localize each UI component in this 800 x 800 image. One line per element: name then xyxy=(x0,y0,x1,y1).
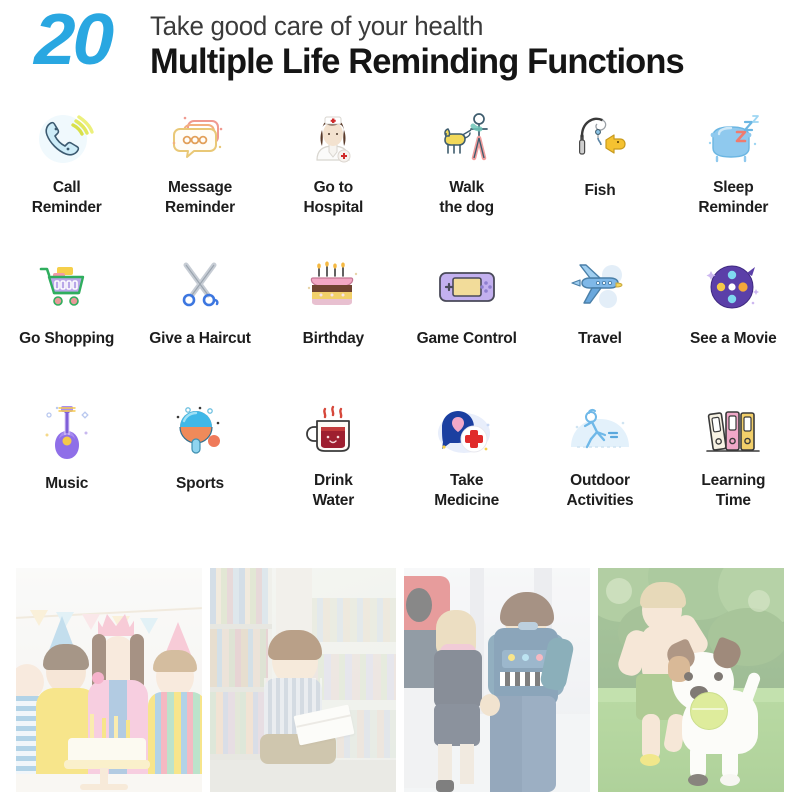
feature-item-travel[interactable]: Travel xyxy=(533,252,666,402)
guitar-icon xyxy=(32,401,102,463)
feature-item-fish[interactable]: Fish xyxy=(533,104,666,254)
handheld-game-icon xyxy=(432,256,502,318)
infographic-page: 20 Take good care of your health Multipl… xyxy=(0,0,800,800)
page-subtitle: Take good care of your health xyxy=(150,12,764,40)
film-reel-icon xyxy=(698,256,768,318)
feature-item-birthday[interactable]: Birthday xyxy=(267,252,400,402)
feature-label: Outdoor Activities xyxy=(567,471,634,511)
drink-mug-icon xyxy=(298,401,368,463)
feature-label: Call Reminder xyxy=(32,178,102,218)
ping-pong-icon xyxy=(165,401,235,463)
nurse-icon xyxy=(298,108,368,170)
feature-grid: Call Reminder xyxy=(0,104,800,554)
chat-bubbles-icon xyxy=(165,108,235,170)
sleeping-pillow-icon xyxy=(698,108,768,170)
feature-item-take-medicine[interactable]: Take Medicine xyxy=(400,397,533,547)
photo-strip xyxy=(0,568,800,796)
feature-item-sports[interactable]: Sports xyxy=(133,397,266,547)
feature-label: Learning Time xyxy=(701,471,765,511)
page-header: 20 Take good care of your health Multipl… xyxy=(0,0,800,100)
photo-school-backpacks xyxy=(404,568,590,792)
feature-label: Birthday xyxy=(303,329,364,349)
photo-library-reading xyxy=(210,568,396,792)
running-person-icon xyxy=(565,401,635,463)
feature-label: Drink Water xyxy=(313,471,355,511)
phone-handset-icon xyxy=(32,108,102,170)
feature-label: Fish xyxy=(584,181,615,201)
photo-boy-with-dog xyxy=(598,568,784,792)
feature-label: Sports xyxy=(176,474,224,494)
feature-item-outdoor-activities[interactable]: Outdoor Activities xyxy=(533,397,666,547)
feature-label: Walk the dog xyxy=(439,178,494,218)
shopping-cart-icon xyxy=(32,256,102,318)
feature-label: Take Medicine xyxy=(434,471,499,511)
feature-item-go-to-hospital[interactable]: Go to Hospital xyxy=(267,104,400,254)
feature-item-call-reminder[interactable]: Call Reminder xyxy=(0,104,133,254)
binders-books-icon xyxy=(698,401,768,463)
feature-label: Go to Hospital xyxy=(304,178,364,218)
feature-label: Give a Haircut xyxy=(149,329,250,349)
feature-item-go-shopping[interactable]: Go Shopping xyxy=(0,252,133,402)
feature-row-1: Call Reminder xyxy=(0,104,800,254)
feature-item-learning-time[interactable]: Learning Time xyxy=(667,397,800,547)
feature-label: Music xyxy=(45,474,88,494)
photo-birthday-party xyxy=(16,568,202,792)
scissors-icon xyxy=(165,256,235,318)
feature-row-3: Music xyxy=(0,397,800,547)
feature-label: Message Reminder xyxy=(165,178,235,218)
feature-label: Sleep Reminder xyxy=(698,178,768,218)
page-title: Multiple Life Reminding Functions xyxy=(150,42,780,81)
feature-label: See a Movie xyxy=(690,329,777,349)
feature-label: Go Shopping xyxy=(19,329,114,349)
feature-item-message-reminder[interactable]: Message Reminder xyxy=(133,104,266,254)
medicine-cross-icon xyxy=(432,401,502,463)
header-text-block: Take good care of your health Multiple L… xyxy=(150,12,790,82)
feature-item-walk-the-dog[interactable]: Walk the dog xyxy=(400,104,533,254)
feature-label: Game Control xyxy=(417,329,517,349)
feature-label: Travel xyxy=(578,329,622,349)
feature-row-2: Go Shopping Give a Haircut xyxy=(0,252,800,402)
feature-item-drink-water[interactable]: Drink Water xyxy=(267,397,400,547)
feature-count-number: 20 xyxy=(34,4,111,76)
feature-item-give-a-haircut[interactable]: Give a Haircut xyxy=(133,252,266,402)
feature-item-music[interactable]: Music xyxy=(0,397,133,547)
feature-item-sleep-reminder[interactable]: Sleep Reminder xyxy=(667,104,800,254)
dog-walking-icon xyxy=(432,108,502,170)
feature-item-game-control[interactable]: Game Control xyxy=(400,252,533,402)
fishing-rod-icon xyxy=(565,108,635,170)
airplane-icon xyxy=(565,256,635,318)
feature-item-see-a-movie[interactable]: See a Movie xyxy=(667,252,800,402)
birthday-cake-icon xyxy=(298,256,368,318)
